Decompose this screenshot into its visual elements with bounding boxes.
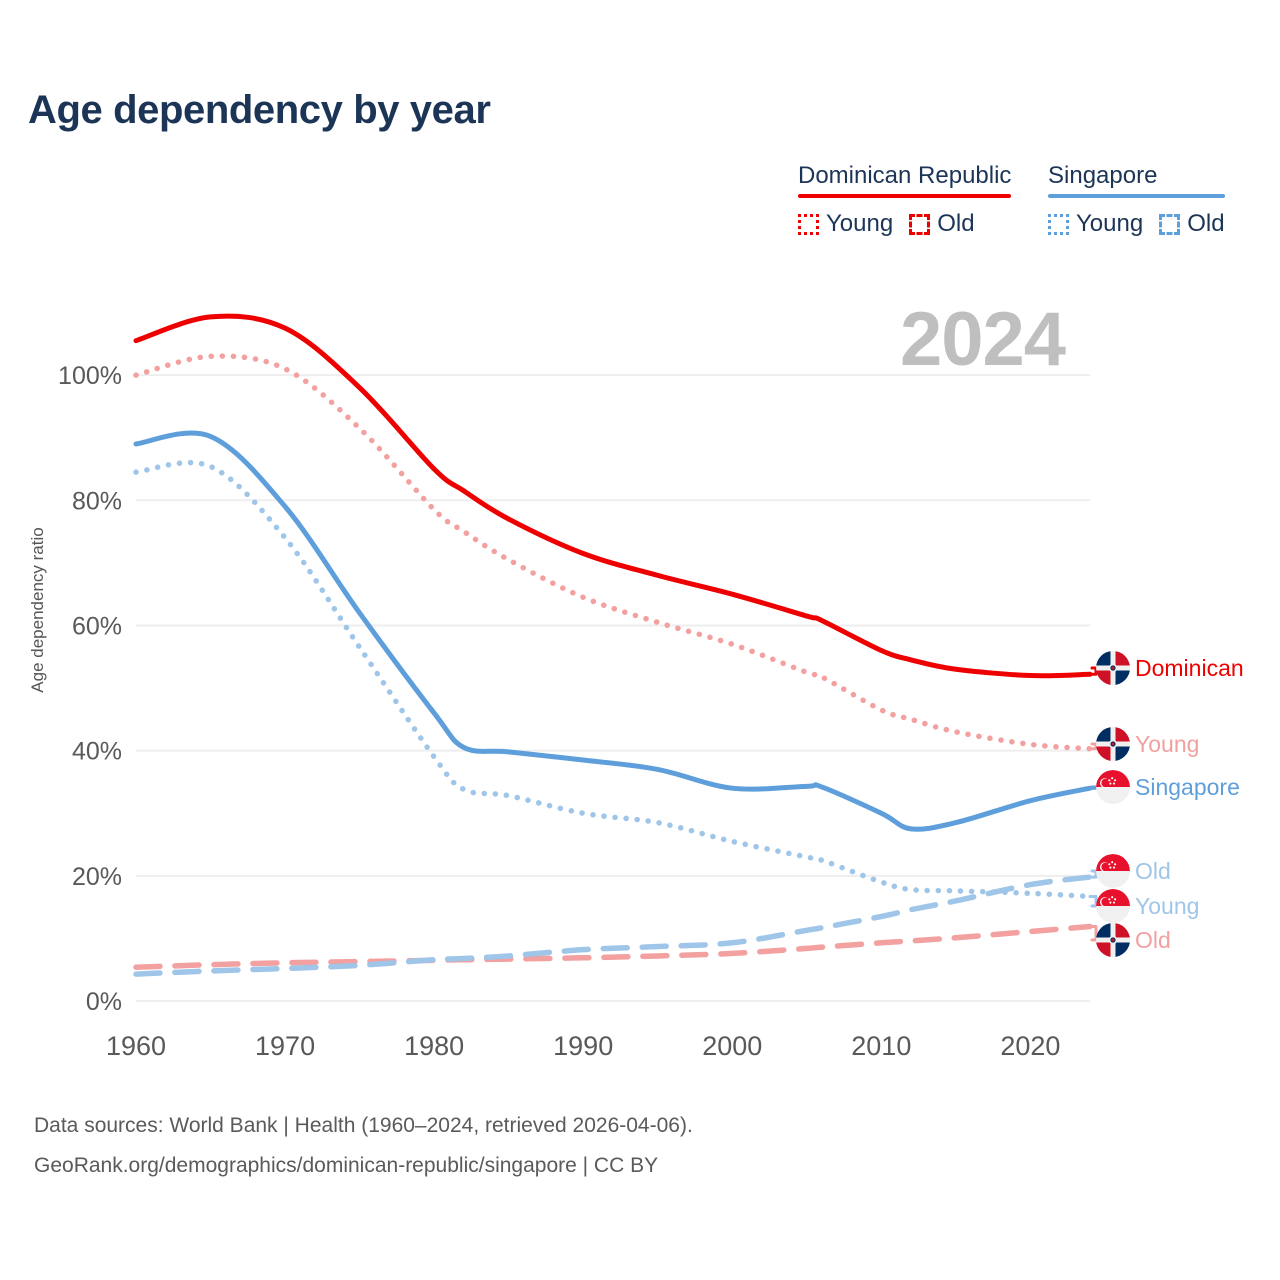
series-line-singapore-total — [136, 433, 1090, 829]
gridlines — [136, 375, 1090, 1001]
x-axis-tick-labels: 1960197019801990200020102020 — [106, 1031, 1060, 1061]
x-tick-label: 2000 — [702, 1031, 762, 1061]
footer-data-sources: Data sources: World Bank | Health (1960–… — [34, 1106, 693, 1146]
y-tick-label: 60% — [72, 612, 122, 640]
y-axis-title: Age dependency ratio — [28, 510, 48, 710]
flag-icon-dominican-republic — [1096, 727, 1130, 761]
dotted-swatch-icon — [798, 214, 819, 235]
end-label-old-3[interactable]: Old — [1096, 854, 1171, 888]
flag-icon-singapore — [1096, 770, 1130, 804]
series-lines — [136, 316, 1090, 974]
y-tick-label: 100% — [58, 362, 122, 390]
end-label-text: Old — [1135, 929, 1171, 952]
legend-country-label: Dominican Republic — [798, 162, 1011, 193]
end-label-text: Young — [1135, 895, 1199, 918]
y-tick-label: 40% — [72, 738, 122, 766]
footer: Data sources: World Bank | Health (1960–… — [34, 1106, 693, 1186]
series-line-dominican-republic-old — [136, 927, 1090, 968]
x-tick-label: 2020 — [1000, 1031, 1060, 1061]
series-end-labels: DominicanYoungSingaporeOldYoungOld — [1096, 0, 1280, 1280]
end-label-text: Young — [1135, 733, 1199, 756]
x-tick-label: 1990 — [553, 1031, 613, 1061]
legend-group-dominican-republic[interactable]: Dominican Republic Young Old — [798, 162, 1011, 238]
legend-item-label: Old — [937, 210, 974, 238]
legend-underline-red — [798, 194, 1011, 198]
flag-icon-dominican-republic — [1096, 923, 1130, 957]
flag-icon-singapore — [1096, 889, 1130, 923]
x-tick-label: 1960 — [106, 1031, 166, 1061]
page-title: Age dependency by year — [28, 88, 491, 133]
end-label-young-4[interactable]: Young — [1096, 889, 1199, 923]
flag-icon-singapore — [1096, 854, 1130, 888]
legend-item-dr-young[interactable]: Young — [798, 210, 893, 238]
x-tick-label: 2010 — [851, 1031, 911, 1061]
series-line-dominican-republic-young — [136, 356, 1090, 749]
y-axis-tick-labels: 0%20%40%60%80%100% — [58, 362, 122, 1016]
end-label-old-5[interactable]: Old — [1096, 923, 1171, 957]
chart-page: Age dependency by year Dominican Republi… — [0, 0, 1280, 1280]
end-label-text: Singapore — [1135, 776, 1240, 799]
end-label-singapore-2[interactable]: Singapore — [1096, 770, 1240, 804]
series-line-singapore-old — [136, 877, 1090, 974]
legend-item-dr-old[interactable]: Old — [909, 210, 974, 238]
footer-attribution: GeoRank.org/demographics/dominican-repub… — [34, 1146, 693, 1186]
dotted-swatch-icon — [1048, 214, 1069, 235]
end-label-text: Dominican — [1135, 657, 1244, 680]
x-tick-label: 1980 — [404, 1031, 464, 1061]
end-label-young-1[interactable]: Young — [1096, 727, 1199, 761]
end-label-dominican-0[interactable]: Dominican — [1096, 651, 1244, 685]
end-label-text: Old — [1135, 860, 1171, 883]
legend-item-label: Young — [826, 210, 893, 238]
year-watermark: 2024 — [900, 296, 1065, 383]
series-line-singapore-young — [136, 463, 1090, 897]
y-tick-label: 0% — [86, 988, 122, 1016]
flag-icon-dominican-republic — [1096, 651, 1130, 685]
x-tick-label: 1970 — [255, 1031, 315, 1061]
y-tick-label: 80% — [72, 487, 122, 515]
y-tick-label: 20% — [72, 863, 122, 891]
dashed-swatch-icon — [909, 214, 930, 235]
